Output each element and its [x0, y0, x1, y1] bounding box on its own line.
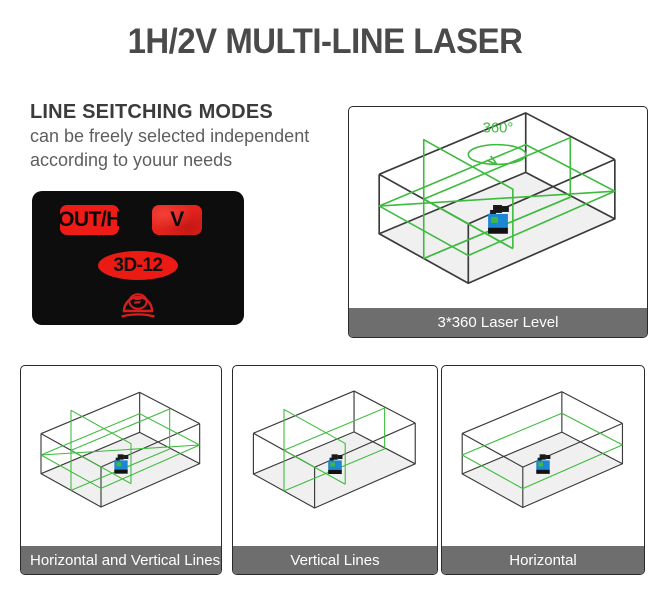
intro-copy-block: LINE SEITCHING MODES can be freely selec… [30, 100, 350, 173]
page-title: 1H/2V MULTI-LINE LASER [20, 22, 631, 62]
brand-logo-icon [118, 287, 158, 319]
room-diagram-vertical [233, 366, 437, 546]
angle-label: 360° [483, 121, 514, 137]
intro-line-2: according to youur needs [30, 149, 350, 173]
panel-vertical-lines-caption: Vertical Lines [233, 546, 437, 574]
model-badge: 3D-12 [98, 251, 178, 280]
intro-heading: LINE SEITCHING MODES [30, 100, 350, 125]
panel-horizontal-caption: Horizontal [442, 546, 644, 574]
panel-vertical-lines: Vertical Lines [232, 365, 438, 575]
key-out-h-button[interactable]: OUT/H [60, 205, 119, 235]
panel-main-caption: 3*360 Laser Level [349, 308, 647, 337]
room-diagram-main: 360° [349, 107, 647, 308]
panel-main-laser-level: 360° 3*360 Laser Level [348, 106, 648, 338]
laser-keypad-panel: OUT/H V 3D-12 [32, 191, 244, 325]
panel-horizontal-and-vertical: Horizontal and Vertical Lines [20, 365, 222, 575]
intro-line-1: can be freely selected independent [30, 125, 350, 149]
room-diagram-horizontal [442, 366, 644, 546]
room-diagram-horizontal-vertical [21, 366, 221, 546]
panel-horizontal-and-vertical-caption: Horizontal and Vertical Lines [21, 546, 221, 574]
panel-horizontal: Horizontal [441, 365, 645, 575]
key-v-button[interactable]: V [152, 205, 202, 235]
